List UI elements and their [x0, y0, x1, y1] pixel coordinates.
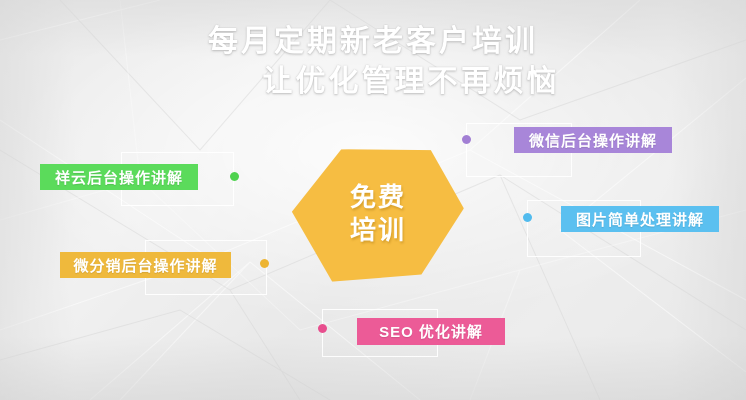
- hexagon-label-line-1: 免费: [350, 181, 406, 214]
- page-title: 每月定期新老客户培训 让优化管理不再烦恼: [0, 22, 746, 102]
- headline-line-1: 每月定期新老客户培训: [208, 25, 538, 58]
- topic-label-fenxiao-admin[interactable]: 微分销后台操作讲解: [60, 252, 231, 278]
- topic-label-image-editing[interactable]: 图片简单处理讲解: [561, 206, 719, 232]
- hexagon-label-line-2: 培训: [350, 214, 406, 247]
- topic-label-seo-optimization[interactable]: SEO 优化讲解: [357, 318, 505, 345]
- connector-dot-xiangyun-admin: [230, 172, 239, 181]
- free-training-hexagon: 免费 培训: [292, 148, 464, 280]
- connector-dot-wechat-admin: [462, 135, 471, 144]
- connector-dot-image-editing: [523, 213, 532, 222]
- topic-label-xiangyun-admin[interactable]: 祥云后台操作讲解: [40, 164, 198, 190]
- training-banner: 每月定期新老客户培训 让优化管理不再烦恼 免费 培训 微信后台操作讲解祥云后台操…: [0, 0, 746, 400]
- hexagon-label: 免费 培训: [292, 148, 464, 280]
- headline-line-2: 让优化管理不再烦恼: [0, 62, 746, 102]
- connector-dot-fenxiao-admin: [260, 259, 269, 268]
- connector-dot-seo-optimization: [318, 324, 327, 333]
- topic-label-wechat-admin[interactable]: 微信后台操作讲解: [514, 127, 672, 153]
